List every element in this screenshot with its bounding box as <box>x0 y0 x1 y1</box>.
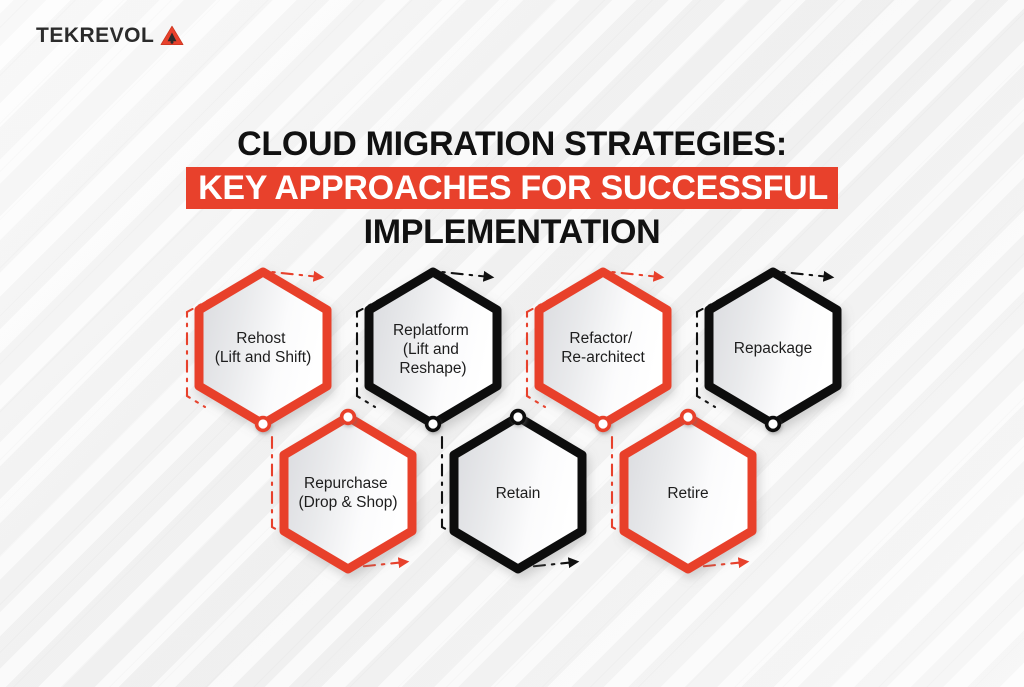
hex-node-repurchase[interactable] <box>284 417 412 569</box>
connector-dot-refactor <box>597 418 610 431</box>
connector-dot-repurchase <box>342 411 355 424</box>
hex-label-retire: Retire <box>667 485 708 502</box>
hex-node-refactor[interactable] <box>539 272 667 424</box>
hex-label-replatform: Replatform (Lift and Reshape) <box>393 322 473 377</box>
hex-node-rehost[interactable] <box>199 272 327 424</box>
connector-dot-retain <box>512 411 525 424</box>
hex-label-repackage: Repackage <box>734 340 812 357</box>
infographic-canvas: TEKREVOL CLOUD MIGRATION STRATEGIES: KEY… <box>0 0 1024 687</box>
connector-dot-retire <box>682 411 695 424</box>
connector-dot-repackage <box>767 418 780 431</box>
hex-label-retain: Retain <box>496 485 541 502</box>
connector-dot-replatform <box>427 418 440 431</box>
hexagon-flow-diagram: Repurchase (Drop & Shop) Retain Retire <box>0 0 1024 687</box>
connector-dot-rehost <box>257 418 270 431</box>
